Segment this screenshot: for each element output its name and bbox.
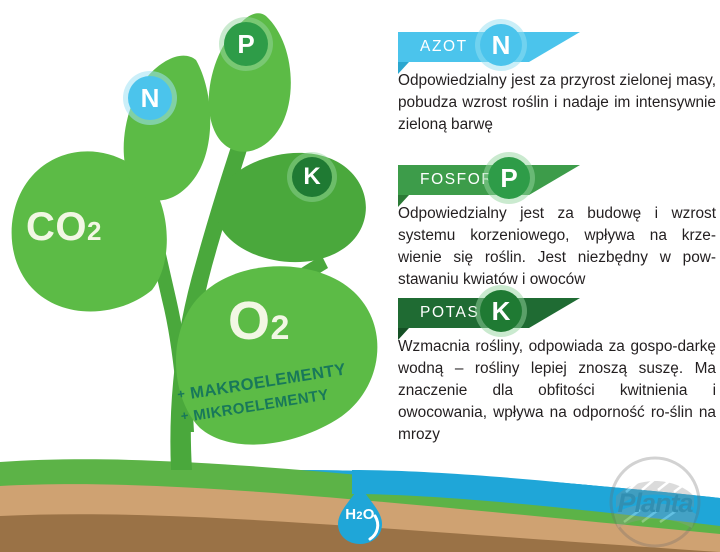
phosphorus-badge[interactable]: P xyxy=(224,22,268,66)
potas-ribbon-label: POTAS xyxy=(420,304,479,322)
droplet-icon xyxy=(334,484,386,546)
section-azot: AZOT N Odpowiedzialny jest za przyrost z… xyxy=(398,24,720,136)
potas-badge-letter: K xyxy=(492,298,511,324)
fosfor-badge[interactable]: P xyxy=(488,157,530,199)
fosfor-description: Odpowiedzialny jest za budowę i wzrost s… xyxy=(398,203,716,291)
potas-badge[interactable]: K xyxy=(480,290,522,332)
potassium-badge-letter: K xyxy=(303,165,320,189)
plant-svg xyxy=(0,0,400,552)
fosfor-ribbon-wrap: FOSFOR P xyxy=(398,157,720,201)
azot-ribbon-label: AZOT xyxy=(420,38,468,56)
section-fosfor: FOSFOR P Odpowiedzialny jest za budowę i… xyxy=(398,157,720,291)
fosfor-badge-letter: P xyxy=(500,165,517,191)
nitrogen-badge[interactable]: N xyxy=(128,76,172,120)
phosphorus-badge-letter: P xyxy=(237,31,254,57)
plant-illustration: CO2 O2 + MAKROELEMENTY + MIKROELEMENTY N… xyxy=(0,0,400,552)
nutrient-panel: AZOT N Odpowiedzialny jest za przyrost z… xyxy=(398,0,720,552)
nitrogen-leaf xyxy=(124,56,211,201)
water-droplet: H2O xyxy=(334,484,386,546)
nitrogen-badge-letter: N xyxy=(141,85,160,111)
azot-description: Odpowiedzialny jest za przyrost zielonej… xyxy=(398,70,716,136)
potassium-badge[interactable]: K xyxy=(292,157,332,197)
azot-ribbon-wrap: AZOT N xyxy=(398,24,720,68)
potas-description: Wzmacnia rośliny, odpowiada za gospo-dar… xyxy=(398,336,716,445)
section-potas: POTAS K Wzmacnia rośliny, odpowiada za g… xyxy=(398,290,720,445)
fosfor-ribbon-label: FOSFOR xyxy=(420,171,494,189)
potas-ribbon-wrap: POTAS K xyxy=(398,290,720,334)
infographic-canvas: CO2 O2 + MAKROELEMENTY + MIKROELEMENTY N… xyxy=(0,0,720,552)
azot-badge[interactable]: N xyxy=(480,24,522,66)
azot-badge-letter: N xyxy=(492,32,511,58)
